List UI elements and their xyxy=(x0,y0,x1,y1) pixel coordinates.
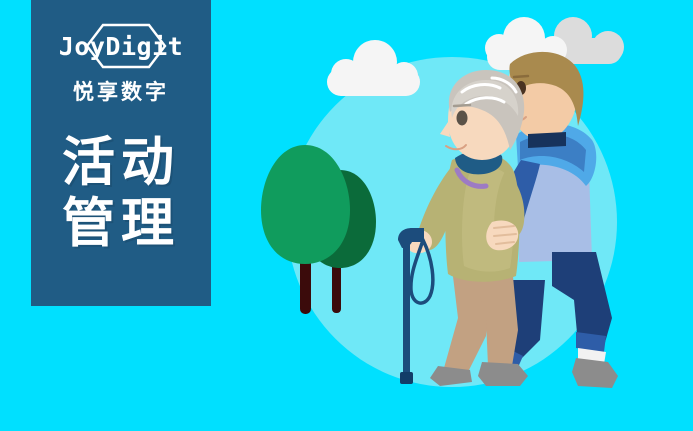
poster-title-line2: 管理 xyxy=(62,193,180,254)
logo: JoyDigit xyxy=(48,22,194,70)
poster-title-line1: 活动 xyxy=(62,132,180,193)
cane-shaft xyxy=(403,240,410,382)
brand-name-cn: 悦享数字 xyxy=(73,76,169,106)
poster-canvas: JoyDigit 悦享数字 活动 管理 xyxy=(0,0,693,431)
poster-title: 活动 管理 xyxy=(62,132,180,254)
logo-wordmark: JoyDigit xyxy=(48,22,194,70)
woman-eye xyxy=(457,111,468,126)
cane-tip xyxy=(400,372,413,384)
brand-panel: JoyDigit 悦享数字 活动 管理 xyxy=(31,0,211,306)
